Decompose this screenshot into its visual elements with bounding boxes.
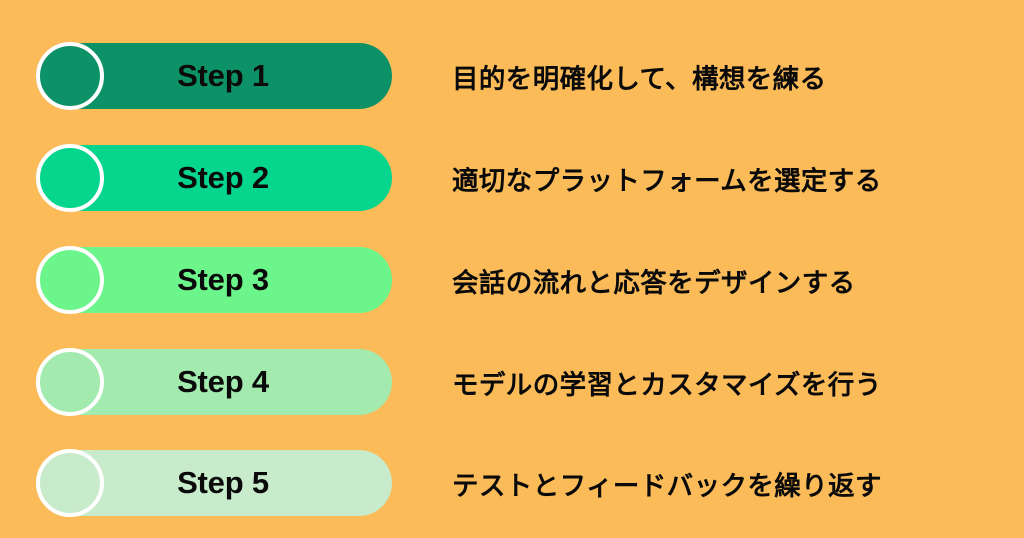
step-label: Step 2 bbox=[92, 144, 354, 212]
step-description: 会話の流れと応答をデザインする bbox=[452, 261, 856, 300]
step-row: Step 1 目的を明確化して、構想を練る bbox=[0, 42, 1024, 110]
step-description: 目的を明確化して、構想を練る bbox=[452, 57, 826, 96]
step-pill-group: Step 4 bbox=[0, 348, 392, 416]
step-label: Step 1 bbox=[92, 42, 354, 110]
step-row: Step 5 テストとフィードバックを繰り返す bbox=[0, 449, 1024, 517]
step-label: Step 5 bbox=[92, 449, 354, 517]
step-pill-group: Step 5 bbox=[0, 449, 392, 517]
step-pill-group: Step 1 bbox=[0, 42, 392, 110]
step-pill-group: Step 2 bbox=[0, 144, 392, 212]
step-pill-group: Step 3 bbox=[0, 246, 392, 314]
step-list: Step 1 目的を明確化して、構想を練る Step 2 適切なプラットフォーム… bbox=[0, 0, 1024, 538]
step-row: Step 3 会話の流れと応答をデザインする bbox=[0, 246, 1024, 314]
step-label: Step 4 bbox=[92, 348, 354, 416]
step-row: Step 2 適切なプラットフォームを選定する bbox=[0, 144, 1024, 212]
step-diagram-canvas: Step 1 目的を明確化して、構想を練る Step 2 適切なプラットフォーム… bbox=[0, 0, 1024, 538]
step-label: Step 3 bbox=[92, 246, 354, 314]
step-row: Step 4 モデルの学習とカスタマイズを行う bbox=[0, 348, 1024, 416]
step-description: テストとフィードバックを繰り返す bbox=[452, 464, 882, 503]
step-description: モデルの学習とカスタマイズを行う bbox=[452, 363, 882, 402]
step-description: 適切なプラットフォームを選定する bbox=[452, 159, 882, 198]
